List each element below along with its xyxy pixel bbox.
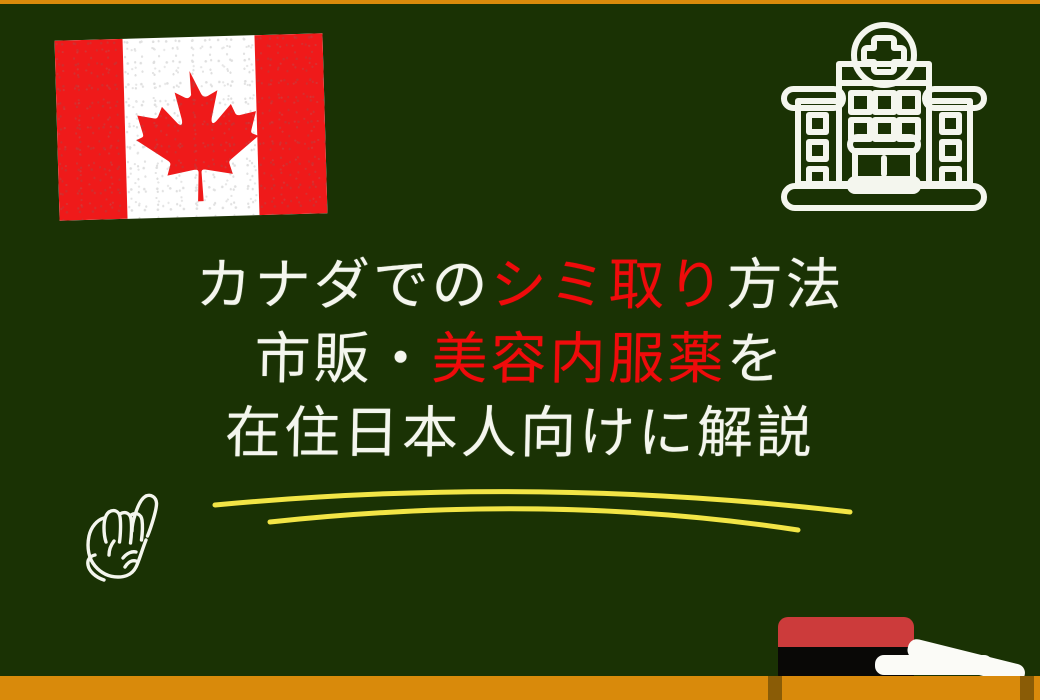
pointing-hand-icon xyxy=(73,482,177,586)
title-line-2-seg-2: 美容内服薬 xyxy=(431,327,727,392)
title-line-2-seg-1: 市販・ xyxy=(254,327,432,392)
board-top-rail xyxy=(0,0,1040,4)
canada-flag-field xyxy=(55,33,328,220)
board-bottom-rail xyxy=(0,676,1040,700)
chalkboard-poster: カナダでのシミ取り方法 市販・美容内服薬を 在住日本人向けに解説 xyxy=(0,0,1040,700)
title-underline xyxy=(190,470,870,540)
title-line-1: カナダでのシミ取り方法 xyxy=(0,258,1040,314)
board-rail-seam-2 xyxy=(1020,676,1034,700)
flag-paper-texture xyxy=(55,33,328,220)
board-rail-seam-1 xyxy=(768,676,782,700)
title-line-1-seg-2: シミ取り xyxy=(490,253,727,318)
hospital-building-icon xyxy=(776,20,992,220)
title-line-2-seg-3: を xyxy=(726,327,786,392)
canada-flag xyxy=(55,33,328,220)
title-line-3: 在住日本人向けに解説 xyxy=(0,406,1040,462)
title-line-2: 市販・美容内服薬を xyxy=(0,332,1040,388)
title-line-1-seg-1: カナダでの xyxy=(195,253,491,318)
title-line-1-seg-3: 方法 xyxy=(726,253,845,318)
page-title: カナダでのシミ取り方法 市販・美容内服薬を 在住日本人向けに解説 xyxy=(0,258,1040,480)
title-line-3-seg-1: 在住日本人向けに解説 xyxy=(224,401,815,466)
